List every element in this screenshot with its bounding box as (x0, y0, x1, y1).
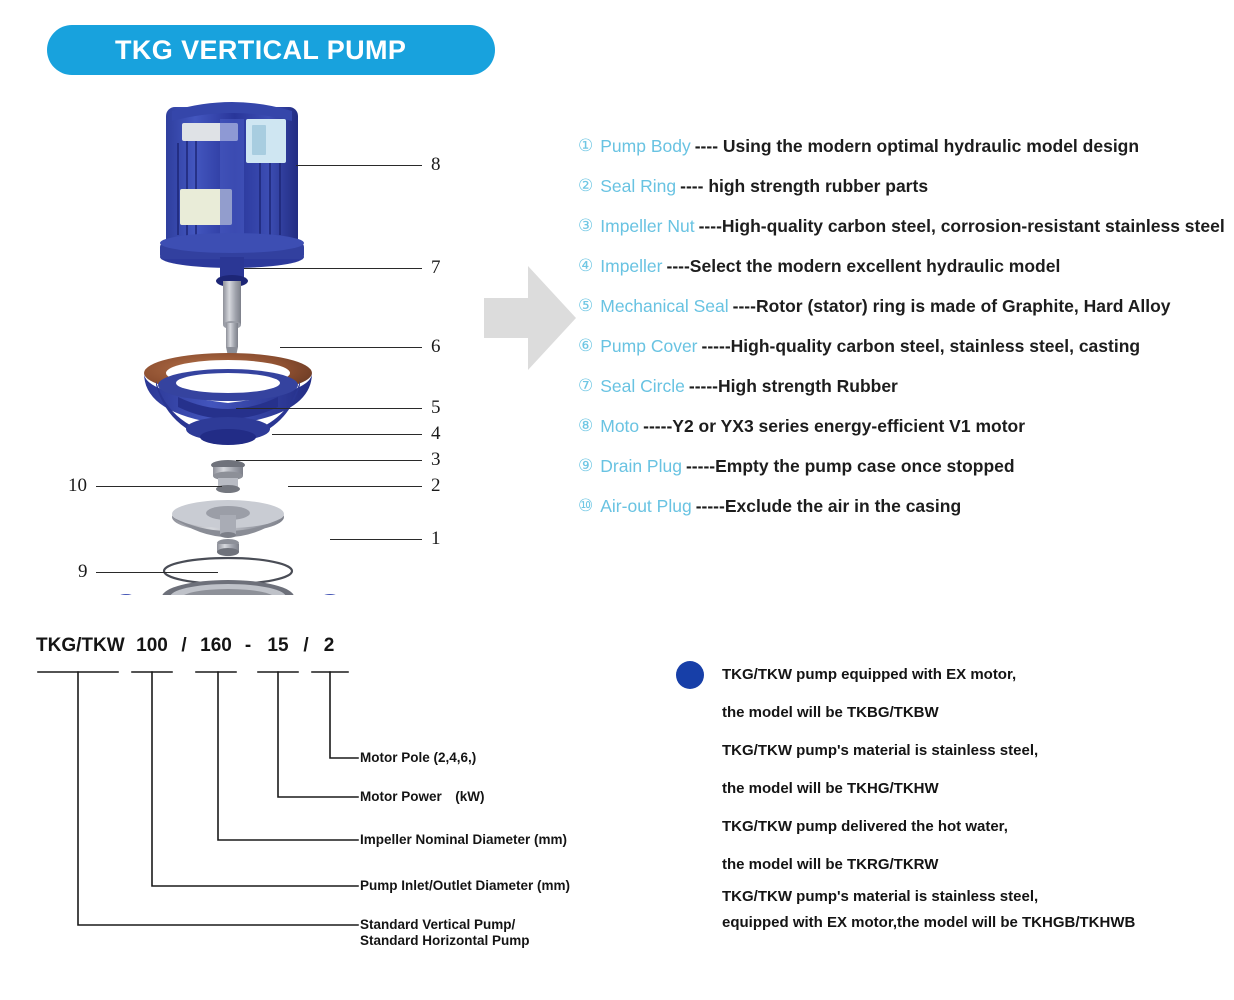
callout-line-7 (244, 268, 422, 269)
legend-part-name: Moto (600, 416, 639, 437)
callout-number-10: 10 (68, 476, 87, 495)
legend-index-icon: ⑩ (578, 496, 593, 516)
branch-label-standard-horizontal-pump: Standard Horizontal Pump (360, 933, 530, 949)
list-item: ⑥ Pump Cover -----High-quality carbon st… (578, 326, 1228, 366)
legend-index-icon: ⑨ (578, 456, 593, 476)
legend-part-name: Pump Body (600, 136, 690, 157)
callout-line-5 (236, 408, 422, 409)
callout-line-3 (236, 460, 422, 461)
callout-line-2 (288, 486, 422, 487)
note-line: equipped with EX motor,the model will be… (722, 909, 1216, 935)
variant-notes-block: TKG/TKW pump equipped with EX motor, the… (676, 655, 1216, 935)
note-line: the model will be TKBG/TKBW (722, 693, 1216, 731)
legend-part-desc: ---- Using the modern optimal hydraulic … (695, 136, 1139, 157)
right-arrow-icon (484, 262, 576, 374)
branch-label-standard-vertical-pump: Standard Vertical Pump/ (360, 917, 515, 933)
callout-line-9 (96, 572, 218, 573)
legend-part-desc: -----Exclude the air in the casing (696, 496, 961, 517)
callout-line-1 (330, 539, 422, 540)
mechanical-seal-part (211, 460, 245, 493)
note-line: TKG/TKW pump delivered the hot water, (722, 807, 1216, 845)
shaft-part (216, 257, 248, 361)
callout-number-9: 9 (78, 562, 88, 581)
legend-index-icon: ⑥ (578, 336, 593, 356)
model-code-breakdown: TKG/TKW 100 / 160 - 15 / 2 (0, 630, 620, 960)
branch-label-motor-pole: Motor Pole (2,4,6,) (360, 750, 476, 766)
model-breakdown-connectors (0, 630, 620, 960)
legend-part-name: Drain Plug (600, 456, 682, 477)
legend-part-name: Seal Circle (600, 376, 685, 397)
legend-part-desc: -----Y2 or YX3 series energy-efficient V… (643, 416, 1025, 437)
legend-part-desc: -----High strength Rubber (689, 376, 898, 397)
legend-index-icon: ② (578, 176, 593, 196)
callout-number-2: 2 (431, 476, 441, 495)
page-title: TKG VERTICAL PUMP (115, 35, 406, 66)
legend-part-name: Air-out Plug (600, 496, 691, 517)
legend-part-name: Pump Cover (600, 336, 697, 357)
list-item: ⑧ Moto -----Y2 or YX3 series energy-effi… (578, 406, 1228, 446)
callout-line-10 (96, 486, 222, 487)
legend-part-desc: ----Select the modern excellent hydrauli… (667, 256, 1061, 277)
pump-body-part (115, 580, 341, 595)
list-item: ② Seal Ring ---- high strength rubber pa… (578, 166, 1228, 206)
page-title-banner: TKG VERTICAL PUMP (47, 25, 495, 75)
callout-line-8 (296, 165, 422, 166)
note-line: the model will be TKRG/TKRW (722, 845, 1216, 883)
note-line: the model will be TKHG/TKHW (722, 769, 1216, 807)
callout-number-3: 3 (431, 450, 441, 469)
legend-index-icon: ③ (578, 216, 593, 236)
legend-index-icon: ⑧ (578, 416, 593, 436)
legend-part-name: Impeller (600, 256, 662, 277)
list-item: ③ Impeller Nut ----High-quality carbon s… (578, 206, 1228, 246)
legend-index-icon: ④ (578, 256, 593, 276)
note-line: TKG/TKW pump's material is stainless ste… (722, 731, 1216, 769)
callout-line-4 (272, 434, 422, 435)
list-item: ⑤ Mechanical Seal ----Rotor (stator) rin… (578, 286, 1228, 326)
callout-number-1: 1 (431, 529, 441, 548)
branch-label-impeller-diameter: Impeller Nominal Diameter (mm) (360, 832, 567, 848)
note-line: TKG/TKW pump equipped with EX motor, (722, 655, 1216, 693)
impeller-nut-part (217, 539, 239, 556)
legend-part-desc: ---- high strength rubber parts (680, 176, 928, 197)
page-canvas: TKG VERTICAL PUMP (0, 0, 1234, 1000)
list-item: ⑩ Air-out Plug -----Exclude the air in t… (578, 486, 1228, 526)
callout-line-6 (280, 347, 422, 348)
legend-index-icon: ① (578, 136, 593, 156)
motor-part (160, 102, 304, 268)
callout-number-7: 7 (431, 258, 441, 277)
legend-part-name: Mechanical Seal (600, 296, 728, 317)
branch-label-inlet-outlet-diameter: Pump Inlet/Outlet Diameter (mm) (360, 878, 570, 894)
legend-part-desc: ----Rotor (stator) ring is made of Graph… (733, 296, 1171, 317)
callout-number-5: 5 (431, 398, 441, 417)
list-item: ⑨ Drain Plug -----Empty the pump case on… (578, 446, 1228, 486)
note-line: TKG/TKW pump's material is stainless ste… (722, 883, 1216, 909)
exploded-pump-illustration (60, 85, 480, 595)
legend-part-name: Impeller Nut (600, 216, 694, 237)
pump-cover-part (144, 353, 312, 445)
legend-part-name: Seal Ring (600, 176, 676, 197)
callout-number-8: 8 (431, 155, 441, 174)
branch-label-motor-power: Motor Power (kW) (360, 789, 485, 805)
legend-index-icon: ⑤ (578, 296, 593, 316)
parts-legend-list: ① Pump Body ---- Using the modern optima… (578, 126, 1228, 526)
legend-part-desc: -----Empty the pump case once stopped (686, 456, 1015, 477)
list-item: ① Pump Body ---- Using the modern optima… (578, 126, 1228, 166)
legend-part-desc: ----High-quality carbon steel, corrosion… (699, 216, 1225, 237)
callout-number-4: 4 (431, 424, 441, 443)
legend-index-icon: ⑦ (578, 376, 593, 396)
legend-part-desc: -----High-quality carbon steel, stainles… (702, 336, 1141, 357)
list-item: ④ Impeller ----Select the modern excelle… (578, 246, 1228, 286)
bullet-dot-icon (676, 661, 704, 689)
callout-number-6: 6 (431, 337, 441, 356)
impeller-part (172, 500, 284, 538)
list-item: ⑦ Seal Circle -----High strength Rubber (578, 366, 1228, 406)
